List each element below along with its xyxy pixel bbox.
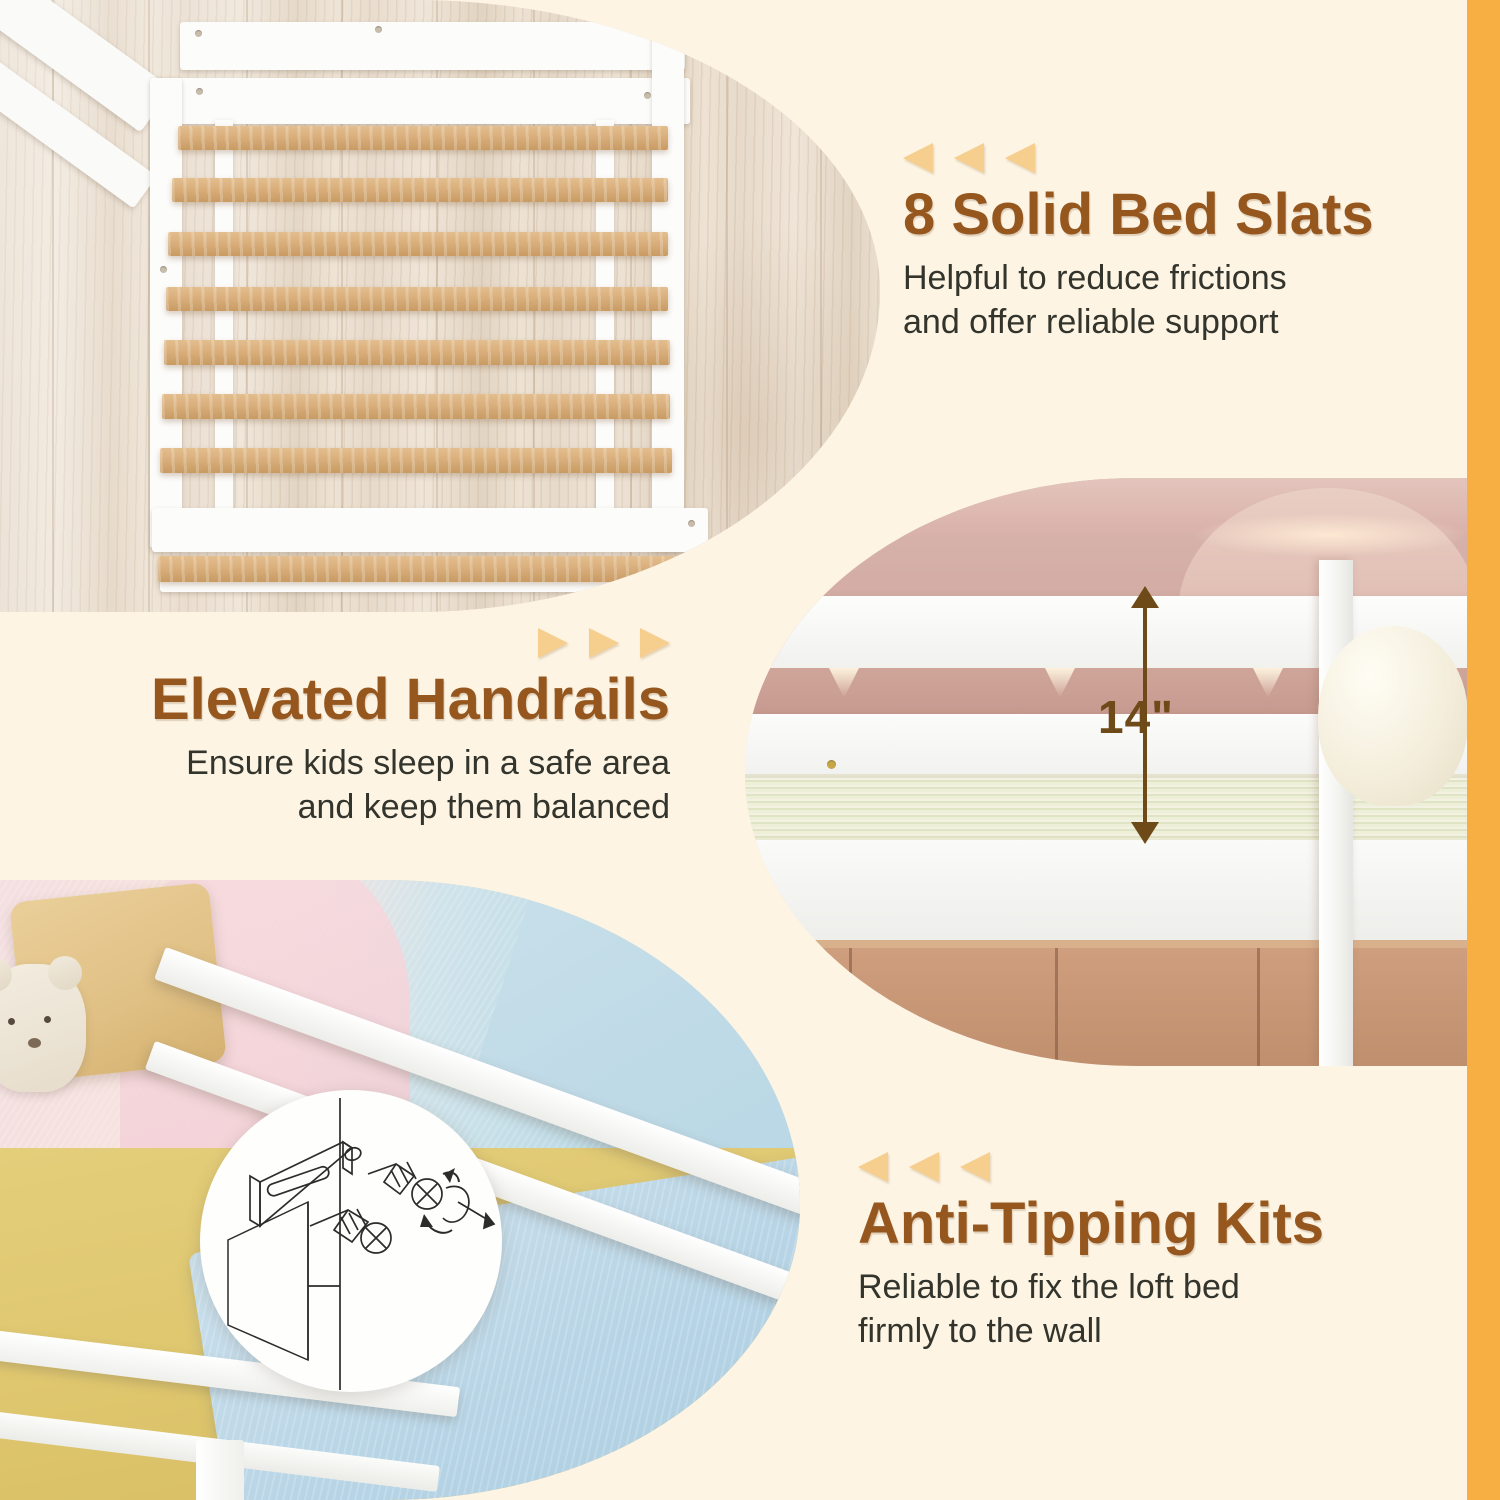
chevron-left-icon (1005, 143, 1035, 173)
chevron-right-icon (538, 628, 568, 658)
bed-frame-top-rail-2 (152, 78, 690, 124)
wall-light-glow (1194, 514, 1464, 556)
bed-vertical-post (1319, 560, 1353, 1066)
arrow-group-right (60, 628, 670, 658)
bed-slat (168, 232, 668, 256)
anti-tipping-callout-circle (200, 1090, 502, 1392)
chevron-left-icon (858, 1152, 888, 1182)
chevron-left-icon (903, 143, 933, 173)
bed-slat (164, 340, 670, 365)
feature-block-handrails: Elevated Handrails Ensure kids sleep in … (60, 628, 670, 829)
feature-title: Anti-Tipping Kits (858, 1194, 1324, 1255)
dimension-arrow-down-icon (1131, 822, 1159, 844)
feature-description-line-2: firmly to the wall (858, 1309, 1324, 1353)
feature-description-line-1: Ensure kids sleep in a safe area (60, 741, 670, 785)
bed-leg-post (196, 1440, 244, 1500)
arrow-group-left (858, 1152, 1324, 1182)
feature-description-line-2: and keep them balanced (60, 785, 670, 829)
chevron-left-icon (960, 1152, 990, 1182)
feature-block-anti-tipping: Anti-Tipping Kits Reliable to fix the lo… (858, 1152, 1324, 1353)
feature-description-line-1: Reliable to fix the loft bed (858, 1265, 1324, 1309)
infographic-canvas: 8 Solid Bed Slats Helpful to reduce fric… (0, 0, 1500, 1500)
bed-slat (166, 287, 668, 311)
feature-title: Elevated Handrails (60, 670, 670, 731)
chevron-left-icon (954, 143, 984, 173)
photo-loft-bed-guardrail: 14" (745, 478, 1500, 1066)
accent-band-right (1467, 0, 1500, 1500)
dimension-label: 14" (1091, 690, 1181, 744)
chevron-left-icon (909, 1152, 939, 1182)
dimension-arrow-up-icon (1131, 586, 1159, 608)
chevron-right-icon (589, 628, 619, 658)
bed-slat (172, 178, 668, 202)
teddy-bear (0, 964, 86, 1092)
feature-description-line-2: and offer reliable support (903, 300, 1374, 344)
feature-title: 8 Solid Bed Slats (903, 185, 1374, 246)
bed-slat (160, 448, 672, 473)
bed-frame-top-rail (180, 22, 685, 70)
feature-block-bed-slats: 8 Solid Bed Slats Helpful to reduce fric… (903, 143, 1374, 344)
bed-slat (158, 556, 700, 582)
bed-side-panel (745, 840, 1500, 948)
bed-slat (162, 394, 670, 419)
cushion (1318, 626, 1468, 806)
feature-description-line-1: Helpful to reduce frictions (903, 256, 1374, 300)
storage-cabinets (745, 948, 1500, 1066)
chevron-right-icon (640, 628, 670, 658)
arrow-group-left (903, 143, 1374, 173)
bracket-screw-diagram (200, 1090, 502, 1392)
bed-slat (178, 126, 668, 150)
bed-frame-bottom-rail (152, 508, 708, 552)
